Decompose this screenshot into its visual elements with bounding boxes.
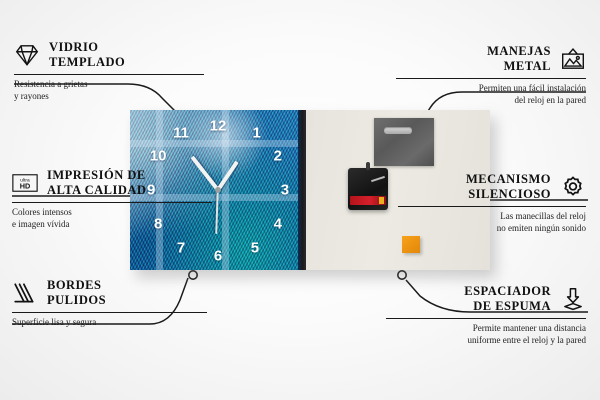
callout-title-line2: DE ESPUMA	[464, 299, 551, 314]
movement-shaft	[366, 162, 370, 170]
callout-vidrio-templado: VIDRIO TEMPLADO Resistencia a grietas y …	[14, 40, 204, 102]
foam-spacer	[402, 236, 420, 253]
callout-desc-line2: uniforme entre el reloj y la pared	[386, 335, 586, 347]
callout-bordes-pulidos: BORDES PULIDOS Superficie lisa y segura	[12, 278, 207, 329]
ultra-hd-icon: ultra HD	[12, 170, 38, 196]
clock-numeral-4: 4	[274, 217, 282, 232]
callout-title-line1: IMPRESIÓN DE	[47, 168, 146, 183]
callout-desc-line2: del reloj en la pared	[396, 95, 586, 107]
battery-tip	[379, 197, 384, 204]
callout-title-line2: METAL	[487, 59, 551, 74]
battery	[350, 196, 386, 205]
callout-title-line2: PULIDOS	[47, 293, 106, 308]
callout-desc-line1: Resistencia a grietas	[14, 79, 204, 91]
movement-spare-hand	[371, 176, 385, 182]
diamond-icon	[14, 42, 40, 68]
callout-espaciador-de-espuma: ESPACIADOR DE ESPUMA Permite mantener un…	[386, 284, 586, 346]
callout-rule	[14, 74, 204, 76]
infographic-canvas: 12 1 2 3 4 5 6 7 8 9 10 11	[0, 0, 600, 400]
callout-desc-line1: Superficie lisa y segura	[12, 317, 207, 329]
clock-numeral-11: 11	[173, 126, 189, 141]
callout-title-line1: ESPACIADOR	[464, 284, 551, 299]
clock-numeral-6: 6	[214, 249, 222, 264]
clock-numeral-10: 10	[150, 149, 167, 164]
callout-title-line1: MECANISMO	[466, 172, 551, 187]
callout-title-line1: VIDRIO	[49, 40, 125, 55]
callout-manejas-metal: MANEJAS METAL Permiten una fácil instala…	[396, 44, 586, 106]
callout-desc-line2: no emiten ningún sonido	[398, 223, 586, 235]
polished-edges-icon	[12, 280, 38, 306]
hanger-keyhole-slot	[384, 127, 412, 134]
clock-numeral-1: 1	[253, 126, 261, 141]
callout-mecanismo-silencioso: MECANISMO SILENCIOSO Las manecillas del …	[398, 172, 586, 234]
clock-movement-box	[348, 168, 388, 210]
callout-title-line2: TEMPLADO	[49, 55, 125, 70]
callout-rule	[386, 318, 586, 320]
callout-impresion-alta-calidad: ultra HD IMPRESIÓN DE ALTA CALIDAD Color…	[12, 168, 212, 230]
clock-numeral-5: 5	[251, 241, 259, 256]
clock-numeral-7: 7	[177, 241, 185, 256]
callout-rule	[12, 312, 207, 314]
svg-text:HD: HD	[20, 182, 31, 191]
callout-title-line1: MANEJAS	[487, 44, 551, 59]
callout-desc-line2: y rayones	[14, 91, 204, 103]
gear-icon	[560, 174, 586, 200]
clock-numeral-2: 2	[274, 149, 282, 164]
callout-desc-line2: e imagen vívida	[12, 219, 212, 231]
callout-rule	[396, 78, 586, 80]
clock-glass-edge	[298, 110, 306, 270]
clock-numeral-3: 3	[281, 183, 289, 198]
clock-numeral-12: 12	[210, 119, 227, 134]
down-arrow-layers-icon	[560, 286, 586, 312]
callout-desc-line1: Colores intensos	[12, 207, 212, 219]
callout-desc-line1: Permite mantener una distancia	[386, 323, 586, 335]
callout-title-line1: BORDES	[47, 278, 106, 293]
clock-center-hub	[215, 187, 221, 193]
callout-desc-line1: Permiten una fácil instalación	[396, 83, 586, 95]
callout-rule	[398, 206, 586, 208]
metal-hanger-plate	[374, 118, 434, 166]
callout-title-line2: ALTA CALIDAD	[47, 183, 146, 198]
callout-rule	[12, 202, 212, 204]
picture-hanger-icon	[560, 46, 586, 72]
callout-title-line2: SILENCIOSO	[466, 187, 551, 202]
callout-desc-line1: Las manecillas del reloj	[398, 211, 586, 223]
